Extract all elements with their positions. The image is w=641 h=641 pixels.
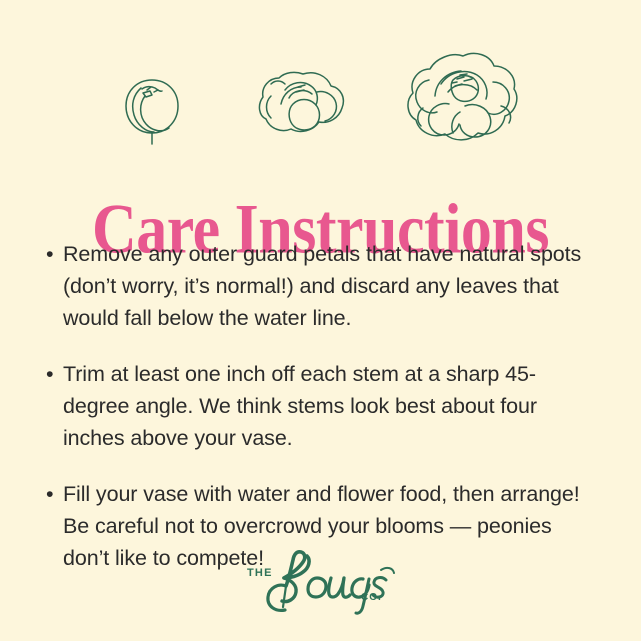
list-item-text: Trim at least one inch off each stem at …	[63, 358, 602, 454]
brand-logo: THE CO.	[0, 539, 641, 619]
peony-illustration-row	[0, 44, 641, 148]
peony-full-bloom-icon	[405, 46, 521, 148]
the-bouqs-co-logo-icon: THE CO.	[241, 540, 401, 618]
bullet-glyph: •	[46, 478, 53, 510]
bullet-glyph: •	[46, 238, 53, 270]
peony-half-open-icon	[255, 60, 351, 148]
list-item-text: Remove any outer guard petals that have …	[63, 238, 602, 334]
list-item: • Trim at least one inch off each stem a…	[46, 358, 602, 454]
bullet-glyph: •	[46, 358, 53, 390]
list-item: • Remove any outer guard petals that hav…	[46, 238, 602, 334]
care-instructions-list: • Remove any outer guard petals that hav…	[46, 238, 602, 574]
logo-the-text: THE	[247, 567, 273, 579]
care-instructions-card: Care Instructions • Remove any outer gua…	[0, 0, 641, 641]
peony-bud-icon	[121, 74, 183, 148]
